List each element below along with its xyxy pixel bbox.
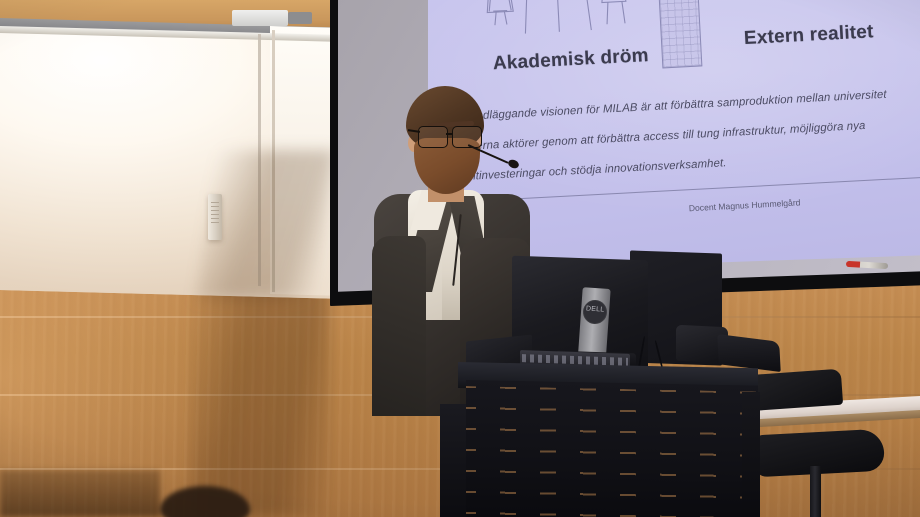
lectern-leg	[742, 392, 760, 517]
mur-wall-graphic	[655, 0, 702, 68]
slide-divider	[470, 176, 920, 202]
presenter-arm-back	[372, 236, 426, 416]
academic-dream-drawing-icon	[462, 0, 658, 47]
office-chair-post	[810, 466, 821, 517]
presenter-shadow-on-wood	[190, 282, 330, 517]
slide-footer-presenter: Docent Magnus Hummelgård	[689, 197, 801, 213]
glasses-icon	[416, 126, 486, 148]
wall-pen-holder	[208, 194, 222, 240]
photo-scene: mur Akademisk dröm Extern	[0, 0, 920, 517]
dell-logo-text: DELL	[584, 305, 606, 314]
slide-heading-academic-dream: Akademisk dröm	[492, 45, 649, 75]
external-reality-drawing-icon	[721, 0, 866, 7]
lectern-ventilation-slots	[466, 386, 758, 517]
headset-microphone-capsule-icon	[507, 158, 520, 170]
lectern-front-panel	[466, 380, 758, 517]
rail-bracket-secondary-icon	[288, 12, 312, 24]
rail-bracket-icon	[232, 10, 288, 26]
slide-heading-external-reality: Extern realitet	[743, 21, 874, 50]
foreground-shadow	[0, 470, 160, 517]
